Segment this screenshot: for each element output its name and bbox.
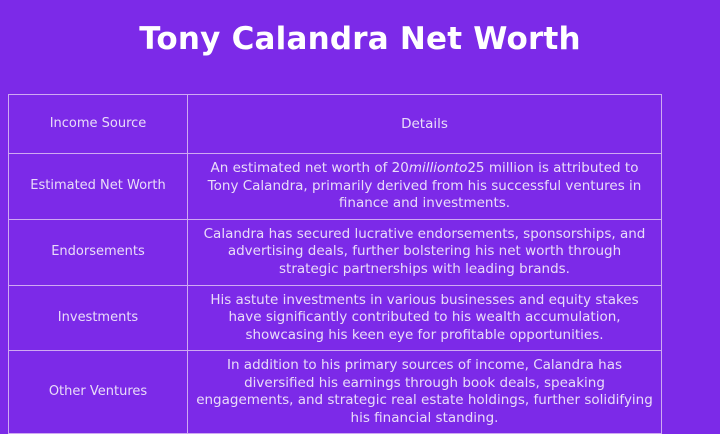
row-details-estimated-net-worth: An estimated net worth of 20millionto25 …	[188, 154, 662, 220]
details-text-italic: millionto	[409, 160, 468, 176]
row-details-investments: His astute investments in various busine…	[188, 285, 662, 351]
column-header-income-source: Income Source	[9, 95, 188, 154]
row-label-other-ventures: Other Ventures	[9, 351, 188, 434]
table-row: Endorsements Calandra has secured lucrat…	[9, 219, 662, 285]
table-header-row: Income Source Details	[9, 95, 662, 154]
column-header-details: Details	[188, 95, 662, 154]
details-text-pre: An estimated net worth of 20	[211, 160, 409, 176]
row-label-investments: Investments	[9, 285, 188, 351]
net-worth-infographic: Tony Calandra Net Worth Income Source De…	[0, 0, 720, 428]
table-row: Estimated Net Worth An estimated net wor…	[9, 154, 662, 220]
net-worth-table: Income Source Details Estimated Net Wort…	[8, 94, 662, 434]
row-label-estimated-net-worth: Estimated Net Worth	[9, 154, 188, 220]
row-details-other-ventures: In addition to his primary sources of in…	[188, 351, 662, 434]
row-details-endorsements: Calandra has secured lucrative endorseme…	[188, 219, 662, 285]
table-row: Investments His astute investments in va…	[9, 285, 662, 351]
row-label-endorsements: Endorsements	[9, 219, 188, 285]
table-row: Other Ventures In addition to his primar…	[9, 351, 662, 434]
page-title: Tony Calandra Net Worth	[0, 19, 720, 59]
